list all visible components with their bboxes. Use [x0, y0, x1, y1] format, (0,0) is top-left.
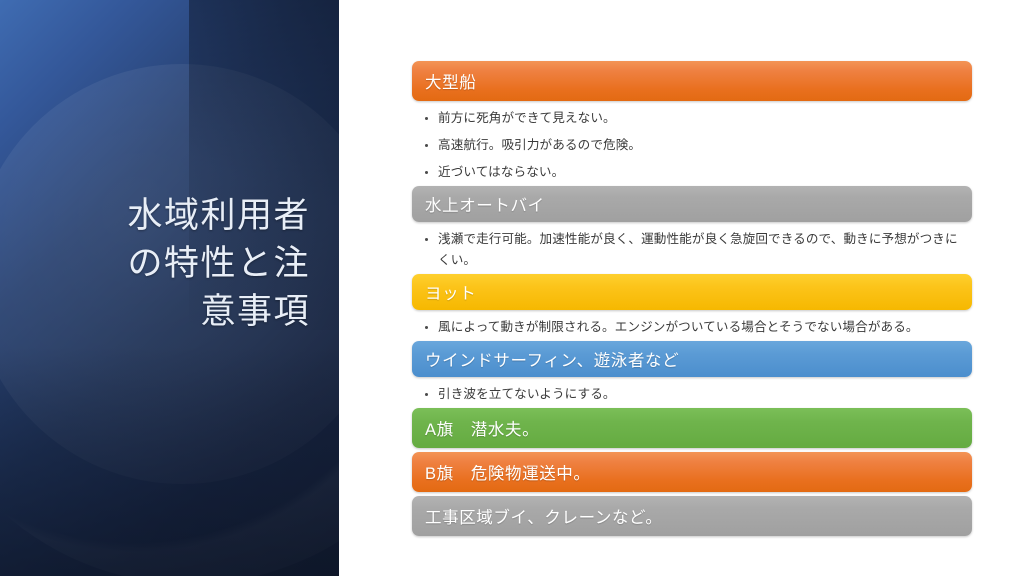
content-area: 大型船前方に死角ができて見えない。高速航行。吸引力があるので危険。近づいてはなら… [339, 0, 1024, 576]
section-header-label: ヨット [425, 280, 476, 304]
section-header-bar[interactable]: ウインドサーフィン、遊泳者など [412, 341, 972, 377]
section-header-bar[interactable]: B旗 危険物運送中。 [412, 452, 972, 492]
section-bullet-list: 引き波を立てないようにする。 [412, 381, 972, 408]
section-header-bar[interactable]: ヨット [412, 274, 972, 310]
bullet-item: 前方に死角ができて見えない。 [416, 105, 972, 132]
section-header-label: 大型船 [425, 69, 476, 93]
section-header-label: 工事区域ブイ、クレーンなど。 [425, 504, 662, 528]
section-header-bar[interactable]: 大型船 [412, 61, 972, 101]
section-list: 大型船前方に死角ができて見えない。高速航行。吸引力があるので危険。近づいてはなら… [412, 61, 972, 540]
slide-title: 水域利用者 の特性と注 意事項 [26, 192, 310, 336]
section-header-bar[interactable]: A旗 潜水夫。 [412, 408, 972, 448]
bullet-item: 引き波を立てないようにする。 [416, 381, 972, 408]
section-bullet-list: 風によって動きが制限される。エンジンがついている場合とそうでない場合がある。 [412, 314, 972, 341]
bullet-item: 浅瀬で走行可能。加速性能が良く、運動性能が良く急旋回できるので、動きに予想がつき… [416, 226, 972, 274]
section-header-label: ウインドサーフィン、遊泳者など [425, 347, 679, 371]
section-header-label: B旗 危険物運送中。 [425, 460, 591, 484]
section-header-label: 水上オートバイ [425, 192, 545, 216]
section-header-bar[interactable]: 水上オートバイ [412, 186, 972, 222]
bullet-item: 高速航行。吸引力があるので危険。 [416, 132, 972, 159]
panel-bottom-fade [0, 346, 339, 576]
title-panel: 水域利用者 の特性と注 意事項 [0, 0, 339, 576]
section-bullet-list: 浅瀬で走行可能。加速性能が良く、運動性能が良く急旋回できるので、動きに予想がつき… [412, 226, 972, 274]
presentation-slide: 水域利用者 の特性と注 意事項 大型船前方に死角ができて見えない。高速航行。吸引… [0, 0, 1024, 576]
section-bullet-list: 前方に死角ができて見えない。高速航行。吸引力があるので危険。近づいてはならない。 [412, 105, 972, 186]
bullet-item: 風によって動きが制限される。エンジンがついている場合とそうでない場合がある。 [416, 314, 972, 341]
section-header-label: A旗 潜水夫。 [425, 416, 539, 440]
section-header-bar[interactable]: 工事区域ブイ、クレーンなど。 [412, 496, 972, 536]
bullet-item: 近づいてはならない。 [416, 159, 972, 186]
